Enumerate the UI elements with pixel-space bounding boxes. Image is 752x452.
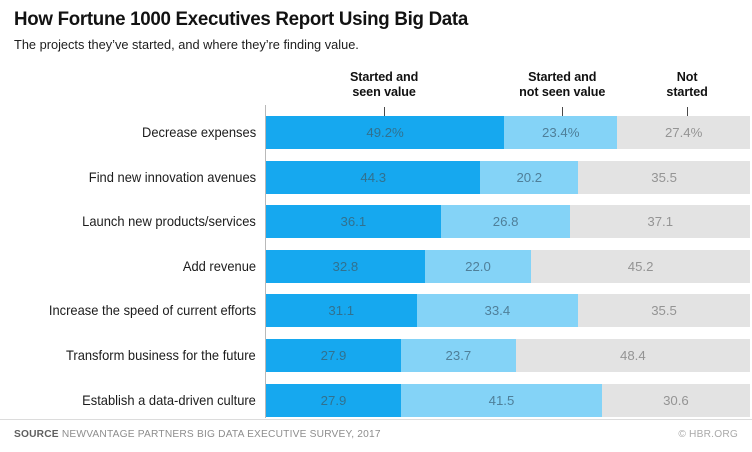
legend-label-line: Started and <box>294 70 474 85</box>
bar-segment-1[interactable]: 27.9 <box>266 384 401 417</box>
legend-label-line: seen value <box>294 85 474 100</box>
bar-rows: Decrease expenses49.2%23.4%27.4%Find new… <box>0 116 752 428</box>
bar-value-label: 48.4 <box>620 348 646 363</box>
category-label: Increase the speed of current efforts <box>49 294 256 327</box>
stacked-bar: 27.941.530.6 <box>266 384 750 417</box>
bar-segment-3[interactable]: 35.5 <box>578 294 750 327</box>
bar-segment-2[interactable]: 23.7 <box>401 339 516 372</box>
bar-segment-2[interactable]: 20.2 <box>480 161 578 194</box>
stacked-bar: 44.320.235.5 <box>266 161 750 194</box>
bar-row: Launch new products/services36.126.837.1 <box>0 205 752 250</box>
bar-value-label: 44.3 <box>360 170 386 185</box>
category-label: Add revenue <box>183 250 256 283</box>
stacked-bar: 27.923.748.4 <box>266 339 750 372</box>
bar-row: Decrease expenses49.2%23.4%27.4% <box>0 116 752 161</box>
category-label: Find new innovation avenues <box>89 161 256 194</box>
bar-segment-3[interactable]: 27.4% <box>617 116 750 149</box>
bar-segment-2[interactable]: 41.5 <box>401 384 602 417</box>
credit-note: © HBR.ORG <box>678 429 738 440</box>
bar-row: Transform business for the future27.923.… <box>0 339 752 384</box>
bar-segment-3[interactable]: 48.4 <box>516 339 750 372</box>
source-label: SOURCE <box>14 429 59 440</box>
bar-row: Increase the speed of current efforts31.… <box>0 294 752 339</box>
legend-label-line: started <box>597 85 752 100</box>
bar-value-label: 31.1 <box>328 303 354 318</box>
stacked-bar: 49.2%23.4%27.4% <box>266 116 750 149</box>
bar-segment-1[interactable]: 44.3 <box>266 161 480 194</box>
source-note: SOURCE NEWVANTAGE PARTNERS BIG DATA EXEC… <box>14 429 381 440</box>
source-text: NEWVANTAGE PARTNERS BIG DATA EXECUTIVE S… <box>62 429 381 440</box>
legend-tick-2 <box>562 107 563 116</box>
bar-segment-2[interactable]: 26.8 <box>441 205 571 238</box>
bar-value-label: 35.5 <box>651 303 677 318</box>
bar-segment-3[interactable]: 35.5 <box>578 161 750 194</box>
bar-segment-2[interactable]: 33.4 <box>417 294 579 327</box>
bar-value-label: 49.2% <box>366 125 403 140</box>
bar-segment-1[interactable]: 36.1 <box>266 205 441 238</box>
stacked-bar: 32.822.045.2 <box>266 250 750 283</box>
bar-segment-1[interactable]: 49.2% <box>266 116 504 149</box>
legend-label-line: Not <box>597 70 752 85</box>
bar-value-label: 32.8 <box>333 259 359 274</box>
bar-segment-1[interactable]: 32.8 <box>266 250 425 283</box>
legend-tick-3 <box>687 107 688 116</box>
stacked-bar: 31.133.435.5 <box>266 294 750 327</box>
bar-value-label: 27.9 <box>321 348 347 363</box>
bar-value-label: 22.0 <box>465 259 491 274</box>
bar-value-label: 20.2 <box>516 170 542 185</box>
bar-value-label: 41.5 <box>489 393 515 408</box>
bar-segment-1[interactable]: 31.1 <box>266 294 417 327</box>
bar-segment-2[interactable]: 23.4% <box>504 116 617 149</box>
bar-value-label: 27.4% <box>665 125 702 140</box>
series-legend: Started andseen valueStarted andnot seen… <box>0 70 752 110</box>
bar-segment-2[interactable]: 22.0 <box>425 250 531 283</box>
category-label: Launch new products/services <box>82 205 256 238</box>
stacked-bar: 36.126.837.1 <box>266 205 750 238</box>
chart-footer: SOURCE NEWVANTAGE PARTNERS BIG DATA EXEC… <box>0 419 752 452</box>
bar-row: Add revenue32.822.045.2 <box>0 250 752 295</box>
bar-value-label: 30.6 <box>663 393 689 408</box>
bar-segment-3[interactable]: 37.1 <box>570 205 750 238</box>
bar-value-label: 33.4 <box>485 303 511 318</box>
legend-label-1: Started andseen value <box>294 70 474 100</box>
bar-value-label: 35.5 <box>651 170 677 185</box>
bar-row: Find new innovation avenues44.320.235.5 <box>0 161 752 206</box>
bar-value-label: 36.1 <box>341 214 367 229</box>
bar-segment-3[interactable]: 30.6 <box>602 384 750 417</box>
category-label: Transform business for the future <box>66 339 256 372</box>
stacked-bar-chart: Started andseen valueStarted andnot seen… <box>0 0 752 452</box>
bar-value-label: 27.9 <box>321 393 347 408</box>
bar-segment-1[interactable]: 27.9 <box>266 339 401 372</box>
legend-tick-1 <box>384 107 385 116</box>
category-label: Decrease expenses <box>142 116 256 149</box>
bar-value-label: 45.2 <box>628 259 654 274</box>
bar-value-label: 26.8 <box>493 214 519 229</box>
bar-segment-3[interactable]: 45.2 <box>531 250 750 283</box>
legend-label-3: Notstarted <box>597 70 752 100</box>
category-label: Establish a data-driven culture <box>82 384 256 417</box>
bar-value-label: 23.4% <box>542 125 579 140</box>
bar-value-label: 23.7 <box>446 348 472 363</box>
bar-value-label: 37.1 <box>647 214 673 229</box>
